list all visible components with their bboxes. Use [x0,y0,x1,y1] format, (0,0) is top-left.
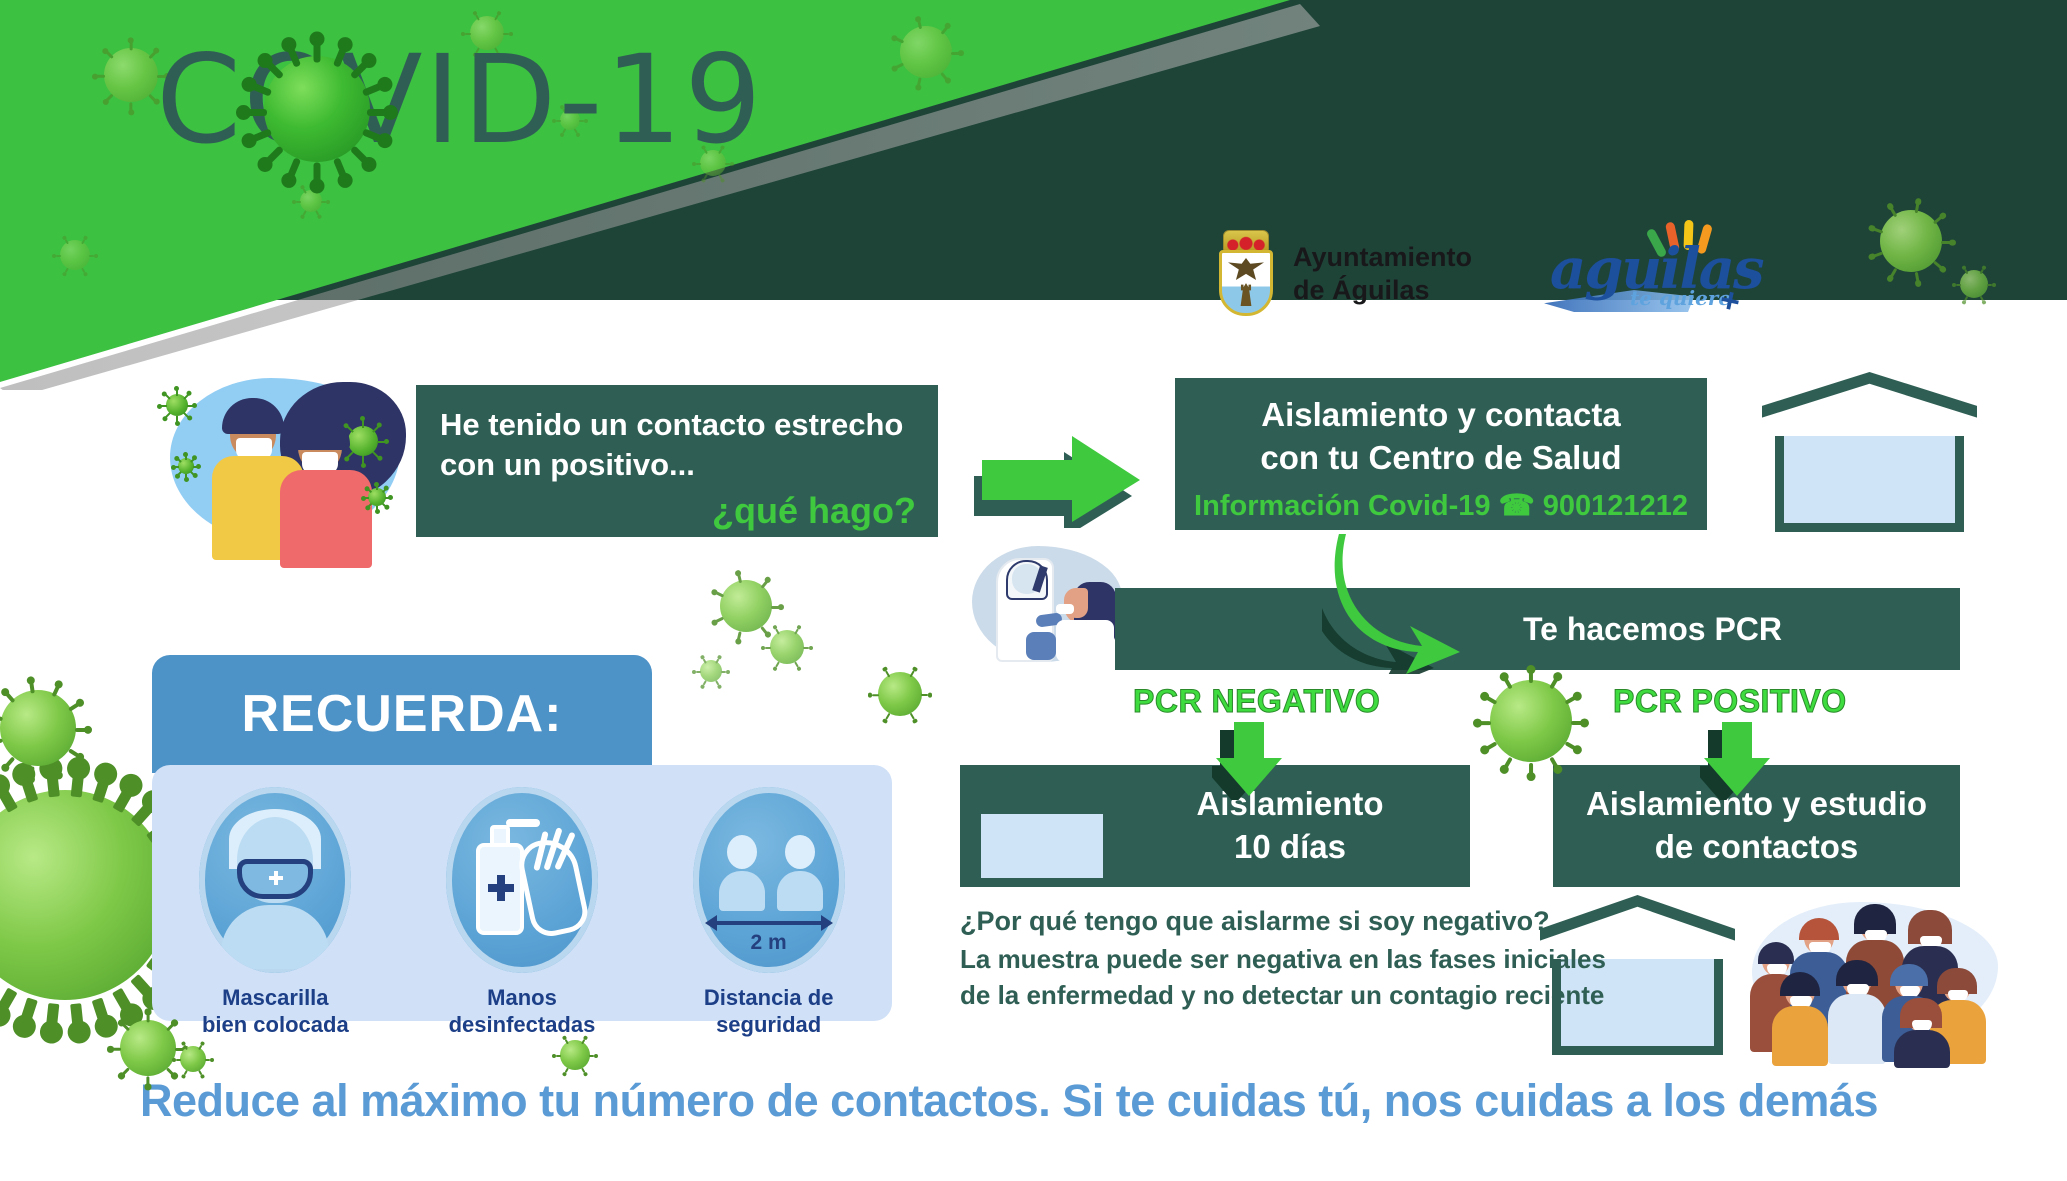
hand-sanitizer-icon [446,787,598,973]
question-line-1: He tenido un contacto estrecho [440,405,916,445]
masked-crowd-illustration [1742,898,2012,1058]
aguilas-tagline: te quiere [1630,286,1731,310]
masked-couple-illustration [160,368,430,563]
virus-particle-icon [60,240,90,270]
virus-particle-icon [560,1040,590,1070]
phone-number: 900121212 [1543,490,1688,522]
virus-particle-icon [1960,270,1988,298]
recuerda-header: RECUERDA: [152,655,652,773]
arrow-right-icon [968,418,1150,528]
recuerda-item-label: Mascarilla bien colocada [180,985,370,1039]
explanation-line-1: La muestra puede ser negativa en las fas… [960,941,1606,977]
pcr-negative-label: PCR NEGATIVO [1133,683,1380,720]
recuerda-item-label: Distancia de seguridad [674,985,864,1039]
mascarilla-line1: Mascarilla [180,985,370,1012]
aguilas-logo: aguilas te quiere + [1544,228,1749,320]
footer-message: Reduce al máximo tu número de contactos.… [140,1075,1878,1127]
ayuntamiento-line1: Ayuntamiento [1293,241,1472,274]
result-negative-line-2: 10 días [1234,826,1346,869]
explanation-question: ¿Por qué tengo que aislarme si soy negat… [960,903,1606,941]
manos-line1: Manos [427,985,617,1012]
question-line-2: con un positivo... [440,445,916,485]
recuerda-body: Mascarilla bien colocada Manos desinfect… [152,765,892,1021]
covid-info-line: Información Covid-19 ☎ 900121212 [1185,488,1697,526]
recuerda-item-distancia: 2 m Distancia de seguridad [674,787,864,1039]
recuerda-title: RECUERDA: [242,684,563,744]
result-positive-line-2: de contactos [1655,826,1859,869]
phone-icon: ☎ [1499,490,1535,522]
virus-particle-icon [120,1020,176,1076]
manos-line2: desinfectadas [427,1012,617,1039]
header-band: COVID-19 [0,0,2067,390]
isolation-box: Aislamiento y contacta con tu Centro de … [1175,378,1707,530]
virus-particle-icon [180,1046,206,1072]
curved-arrow-icon [1322,534,1522,674]
recuerda-panel: RECUERDA: Mascarilla bien colocada [152,655,892,1021]
virus-particle-icon [104,48,158,102]
virus-particle-icon [0,790,170,1000]
distancia-line2: seguridad [674,1012,864,1039]
recuerda-item-label: Manos desinfectadas [427,985,617,1039]
isolation-line-2: con tu Centro de Salud [1185,437,1697,480]
pcr-positive-label: PCR POSITIVO [1613,683,1847,720]
recuerda-item-mascarilla: Mascarilla bien colocada [180,787,370,1039]
virus-particle-icon [1490,680,1572,762]
logo-row: Ayuntamiento de Águilas aguilas te quier… [1215,228,1749,320]
virus-hero-icon [242,34,392,184]
explanation-line-2: de la enfermedad y no detectar un contag… [960,977,1606,1013]
family-in-house-illustration [1762,372,1977,532]
virus-particle-icon [720,580,772,632]
distance-value: 2 m [693,931,845,955]
mascarilla-line2: bien colocada [180,1012,370,1039]
pcr-box: Te hacemos PCR [1115,588,1960,670]
social-distance-icon: 2 m [693,787,845,973]
virus-particle-icon [1880,210,1942,272]
virus-particle-icon [900,26,952,78]
ayuntamiento-line2: de Águilas [1293,274,1472,307]
virus-particle-icon [878,672,922,716]
question-highlight: ¿qué hago? [440,488,916,534]
arrow-down-icon [1700,722,1774,800]
ayuntamiento-logo: Ayuntamiento de Águilas [1215,230,1472,318]
ayuntamiento-logo-text: Ayuntamiento de Águilas [1293,241,1472,307]
family-in-house-illustration [962,765,1122,887]
isolation-line-1: Aislamiento y contacta [1185,394,1697,437]
arrow-down-icon [1212,722,1286,800]
infographic-canvas: COVID-19 Ayuntamiento de Águilas [0,0,2067,1181]
question-box: He tenido un contacto estrecho con un po… [416,385,938,537]
pcr-box-label: Te hacemos PCR [1523,611,1782,648]
mask-icon [199,787,351,973]
distancia-line1: Distancia de [674,985,864,1012]
explanation-text: ¿Por qué tengo que aislarme si soy negat… [960,903,1606,1014]
recuerda-item-manos: Manos desinfectadas [427,787,617,1039]
coat-of-arms-icon [1215,230,1277,318]
info-label: Información Covid-19 [1194,490,1491,522]
virus-particle-icon [0,690,76,766]
